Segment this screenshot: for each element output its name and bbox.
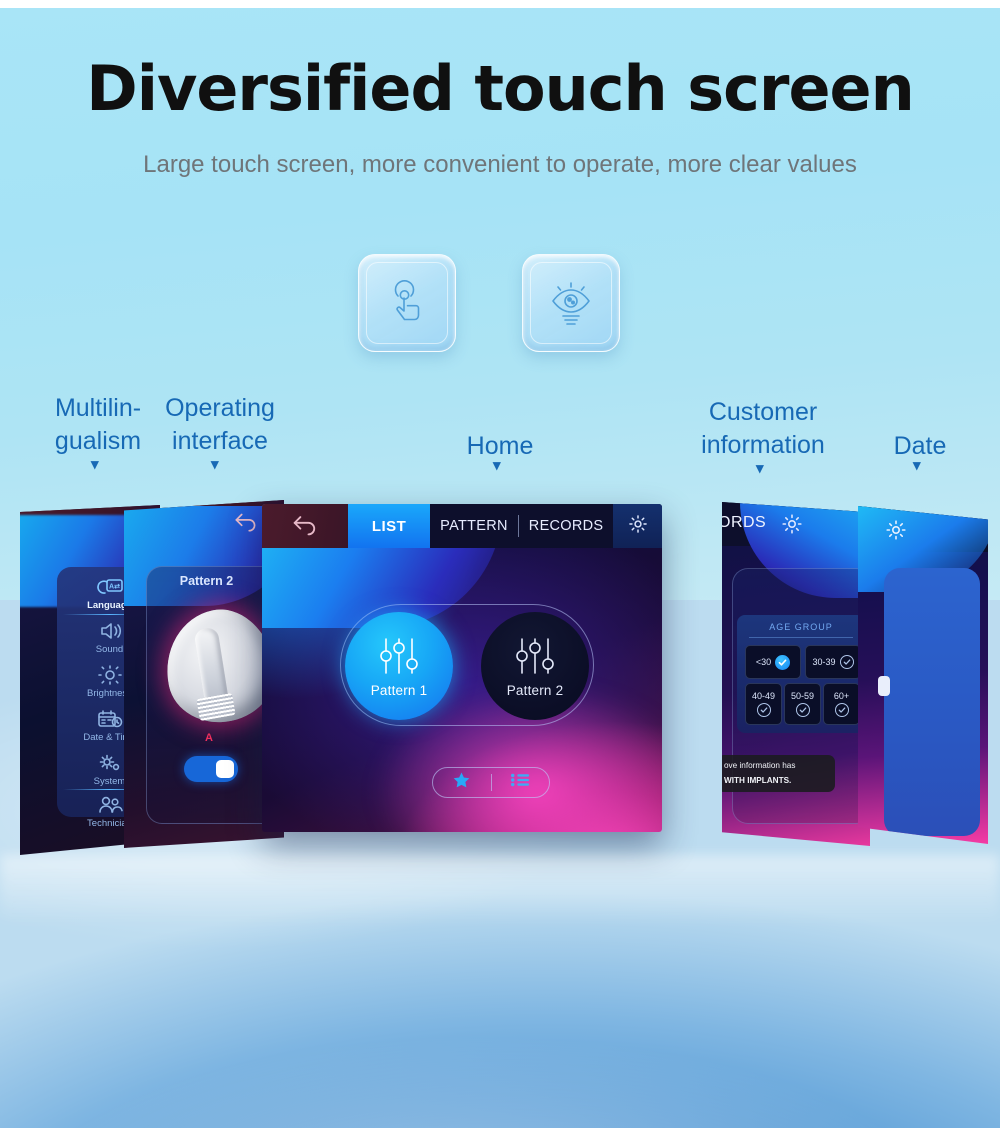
back-arrow-icon[interactable] [232, 510, 260, 537]
favorites-view-button[interactable] [433, 771, 491, 795]
page-subtitle: Large touch screen, more convenient to o… [0, 148, 1000, 181]
age-option-label: 30-39 [812, 657, 835, 667]
date-card [884, 568, 980, 836]
eye-vision-badge [522, 254, 620, 352]
tab-pattern[interactable]: PATTERN [430, 518, 518, 534]
age-option-40-49[interactable]: 40-49 [745, 683, 782, 725]
alert-text: A [124, 732, 284, 744]
list-icon [510, 772, 530, 793]
pattern-toggle-switch[interactable] [184, 756, 238, 782]
panel-pattern-detail[interactable]: Pattern 2 A [124, 500, 284, 848]
sliders-icon [512, 635, 558, 680]
gear-icon[interactable] [780, 512, 804, 541]
check-outline-icon [835, 703, 849, 717]
back-arrow-icon [290, 512, 320, 541]
pattern-label: Pattern 2 [507, 683, 564, 698]
list-view-button[interactable] [491, 772, 549, 793]
back-button[interactable] [262, 504, 348, 548]
check-filled-icon [775, 655, 790, 670]
feature-label-operating-interface: Operating interface [140, 392, 300, 458]
settings-button[interactable] [613, 504, 662, 548]
age-option-30-39[interactable]: 30-39 [805, 645, 861, 679]
toggle-knob [216, 760, 234, 778]
age-group-divider [749, 637, 853, 638]
chevron-down-icon-3: ▾ [493, 458, 501, 473]
pattern-selector-pill: Pattern 1 Pattern 2 [340, 604, 594, 726]
chevron-down-icon-5: ▾ [913, 458, 921, 473]
tab-list[interactable]: LIST [348, 504, 430, 548]
feature-badge-row [0, 254, 1000, 364]
pattern-1-button[interactable]: Pattern 1 [345, 612, 453, 720]
tab-records[interactable]: RECORDS [519, 518, 614, 534]
customer-info-card: AGE GROUP <30 30-39 [732, 568, 870, 824]
check-outline-icon [840, 655, 854, 669]
main-screen-topbar: LIST PATTERN RECORDS [262, 504, 662, 548]
view-mode-toggle [432, 767, 550, 798]
panel-main-screen[interactable]: LIST PATTERN RECORDS Pattern [262, 504, 662, 832]
check-outline-icon [796, 703, 810, 717]
sidebar-item-label: System [94, 776, 126, 787]
sliders-icon [376, 635, 422, 680]
pattern-2-button[interactable]: Pattern 2 [481, 612, 589, 720]
touch-hand-icon [380, 276, 434, 330]
gear-icon[interactable] [884, 518, 908, 547]
implant-warning-tooltip: ove information has WITH IMPLANTS. [722, 755, 835, 792]
chevron-down-icon-2: ▾ [211, 457, 219, 472]
product-feature-page: Diversified touch screen Large touch scr… [0, 0, 1000, 1128]
tab-group: PATTERN RECORDS [430, 504, 613, 548]
age-group-box: AGE GROUP <30 30-39 [737, 615, 865, 733]
tab-records-partial[interactable]: ORDS [722, 514, 766, 532]
age-option-label: 40-49 [752, 691, 775, 701]
touch-gesture-badge [358, 254, 456, 352]
top-white-strip [0, 0, 1000, 8]
pattern-title: Pattern 2 [124, 574, 284, 588]
age-option-60-plus[interactable]: 60+ [823, 683, 860, 725]
tooltip-line-1: ove information has [724, 760, 828, 772]
tooltip-line-2: WITH IMPLANTS. [724, 775, 828, 787]
eye-display-icon [544, 276, 598, 330]
age-option-label: 50-59 [791, 691, 814, 701]
chevron-down-icon-4: ▾ [756, 461, 764, 476]
svg-text:A⇄: A⇄ [109, 583, 120, 591]
age-option-label: 60+ [834, 691, 849, 701]
chevron-down-icon-1: ▾ [91, 457, 99, 472]
age-option-50-59[interactable]: 50-59 [784, 683, 821, 725]
screen-panel-row: A⇄ Language Sound Brightness [0, 480, 1000, 880]
age-option-under30[interactable]: <30 [745, 645, 801, 679]
age-group-title: AGE GROUP [737, 622, 865, 632]
gear-icon [627, 513, 649, 540]
page-title: Diversified touch screen [0, 52, 1000, 125]
star-icon [452, 771, 471, 795]
pattern-label: Pattern 1 [371, 683, 428, 698]
date-card-handle [878, 676, 890, 696]
panel-customer-information[interactable]: ORDS AGE GROUP <30 30-39 [722, 502, 870, 846]
check-outline-icon [757, 703, 771, 717]
feature-label-customer-information: Customer information [683, 396, 843, 462]
sidebar-item-label: Sound [96, 644, 123, 655]
panel-date[interactable] [858, 506, 988, 844]
age-option-label: <30 [756, 657, 771, 667]
